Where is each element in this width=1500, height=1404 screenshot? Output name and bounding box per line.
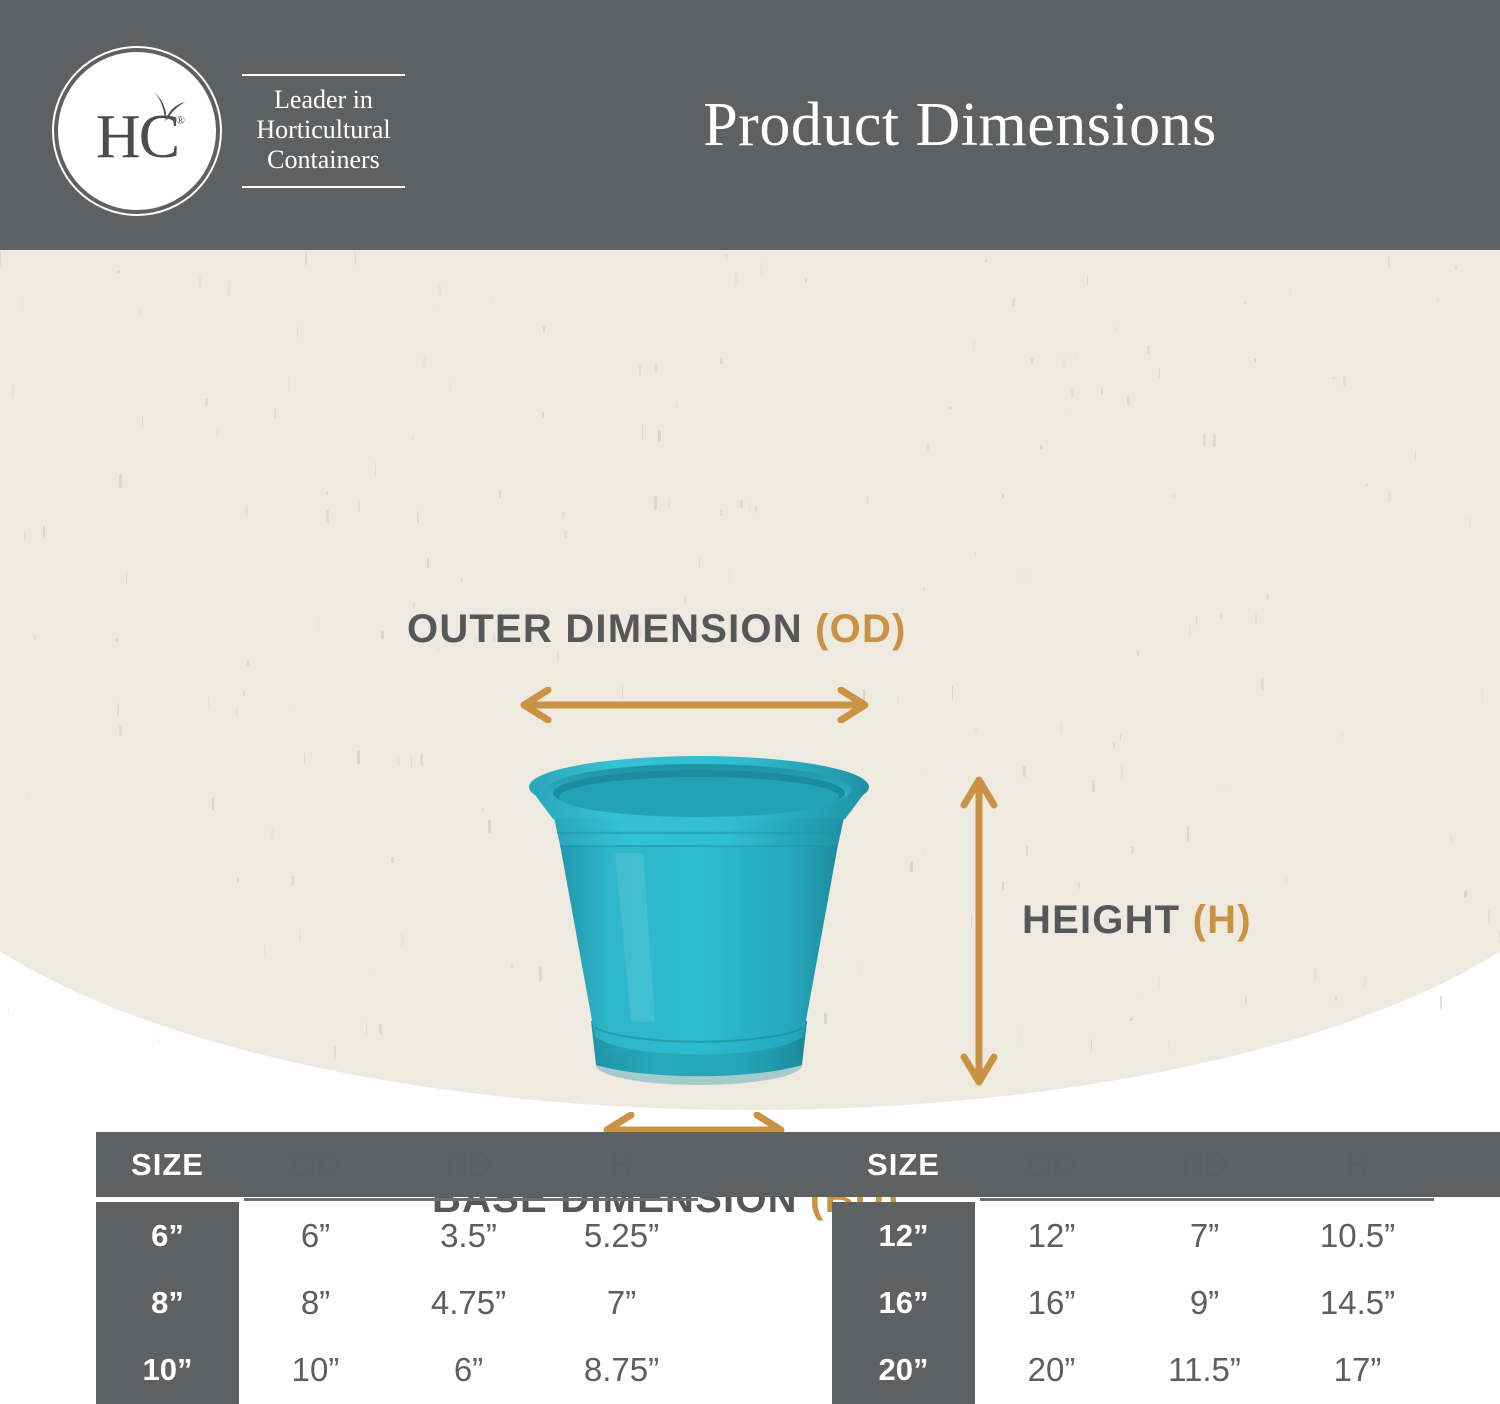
- dimension-diagram: OUTER DIMENSION (OD) HEIGHT (H): [0, 250, 1500, 1040]
- page-title-text: Product Dimensions: [703, 90, 1217, 161]
- hc-monogram-logo-icon: HC ®: [58, 52, 216, 210]
- tagline-rule-bottom: [242, 186, 405, 188]
- cell-h: 17”: [1281, 1351, 1434, 1389]
- cell-od: 20”: [975, 1351, 1128, 1389]
- table-row: 20” 20” 11.5” 17”: [832, 1336, 1434, 1403]
- dimension-tables: SIZE OD BD H 6” 6” 3.5” 5.25” 8” 8” 4.75…: [0, 1110, 1500, 1404]
- table-row: 16” 16” 9” 14.5”: [832, 1269, 1434, 1336]
- cell-od: 6”: [239, 1217, 392, 1255]
- brand-tagline: Leader in Horticultural Containers: [238, 74, 409, 188]
- column-header-bd: BD: [1128, 1146, 1281, 1184]
- column-header-h: H: [1281, 1146, 1434, 1184]
- cell-h: 8.75”: [545, 1351, 698, 1389]
- height-label: HEIGHT (H): [1022, 898, 1252, 943]
- cell-size: 12”: [832, 1218, 975, 1254]
- cell-h: 10.5”: [1281, 1217, 1434, 1255]
- page-header: HC ® Leader in Horticultural Containers …: [0, 0, 1500, 250]
- cell-bd: 3.5”: [392, 1217, 545, 1255]
- table-header-row: SIZE OD BD H: [832, 1132, 1500, 1197]
- tagline-line-1: Leader in: [256, 85, 390, 115]
- cell-size: 10”: [96, 1352, 239, 1388]
- registered-mark: ®: [176, 113, 185, 128]
- cell-bd: 6”: [392, 1351, 545, 1389]
- column-header-od: OD: [239, 1146, 392, 1184]
- cell-bd: 7”: [1128, 1217, 1281, 1255]
- table-header-rule: [244, 1198, 698, 1201]
- cell-od: 8”: [239, 1284, 392, 1322]
- outer-dimension-arrow-icon: [516, 687, 873, 723]
- table-row: 8” 8” 4.75” 7”: [96, 1269, 698, 1336]
- cell-bd: 11.5”: [1128, 1351, 1281, 1389]
- table-row: 6” 6” 3.5” 5.25”: [96, 1202, 698, 1269]
- height-text: HEIGHT: [1022, 898, 1193, 942]
- table-header-rule: [980, 1198, 1434, 1201]
- cell-od: 10”: [239, 1351, 392, 1389]
- column-header-od: OD: [975, 1146, 1128, 1184]
- dimension-table-right: SIZE OD BD H 12” 12” 7” 10.5” 16” 16” 9”…: [832, 1132, 1434, 1403]
- column-header-h: H: [545, 1146, 698, 1184]
- cell-od: 16”: [975, 1284, 1128, 1322]
- cell-size: 20”: [832, 1352, 975, 1388]
- turquoise-planter-pot-image: [519, 753, 879, 1098]
- height-code: (H): [1193, 898, 1252, 942]
- column-header-bd: BD: [392, 1146, 545, 1184]
- tagline-line-2: Horticultural: [256, 115, 390, 145]
- height-arrow-icon: [958, 772, 1000, 1090]
- outer-dimension-code: (OD): [815, 607, 906, 651]
- table-row: 12” 12” 7” 10.5”: [832, 1202, 1434, 1269]
- cell-bd: 9”: [1128, 1284, 1281, 1322]
- cell-size: 6”: [96, 1218, 239, 1254]
- cell-size: 16”: [832, 1285, 975, 1321]
- column-header-size: SIZE: [832, 1147, 975, 1183]
- cell-h: 5.25”: [545, 1217, 698, 1255]
- cell-h: 7”: [545, 1284, 698, 1322]
- brand-lockup: HC ® Leader in Horticultural Containers: [58, 52, 409, 210]
- outer-dimension-label: OUTER DIMENSION (OD): [407, 607, 907, 652]
- table-row: 10” 10” 6” 8.75”: [96, 1336, 698, 1403]
- cell-h: 14.5”: [1281, 1284, 1434, 1322]
- cell-size: 8”: [96, 1285, 239, 1321]
- tagline-line-3: Containers: [256, 145, 390, 175]
- outer-dimension-text: OUTER DIMENSION: [407, 607, 815, 651]
- cell-bd: 4.75”: [392, 1284, 545, 1322]
- dimension-table-left: SIZE OD BD H 6” 6” 3.5” 5.25” 8” 8” 4.75…: [96, 1132, 698, 1403]
- column-header-size: SIZE: [96, 1147, 239, 1183]
- cell-od: 12”: [975, 1217, 1128, 1255]
